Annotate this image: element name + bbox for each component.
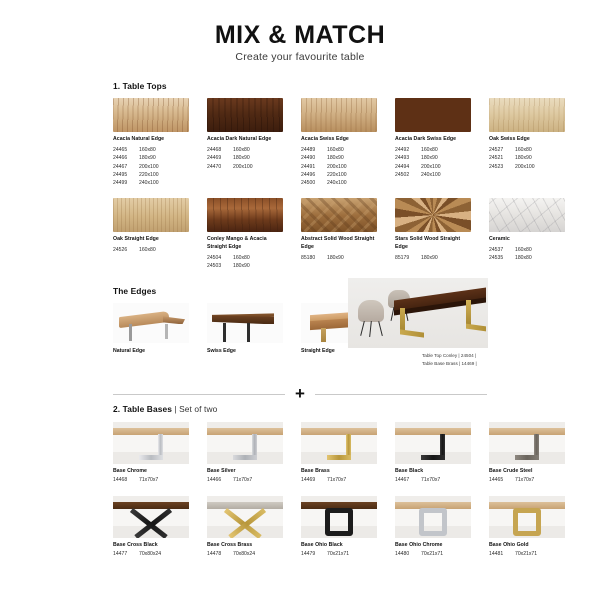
divider-line-left bbox=[113, 394, 285, 395]
divider-line-right bbox=[315, 394, 487, 395]
table-top-card[interactable]: Acacia Dark Natural Edge24468160x8024469… bbox=[207, 98, 283, 187]
base-ohio-shape bbox=[513, 508, 541, 536]
table-top-thumbnail[interactable] bbox=[395, 98, 471, 132]
leg-foot bbox=[233, 455, 257, 460]
page-header: MIX & MATCH Create your favourite table bbox=[0, 0, 600, 63]
variant-sku: 24503 bbox=[207, 262, 229, 270]
page-title: MIX & MATCH bbox=[0, 22, 600, 48]
section-title-table-tops: 1. Table Tops bbox=[113, 81, 600, 91]
variant-row: 24465160x80 bbox=[113, 146, 189, 154]
table-base-name: Base Ohio Chrome bbox=[395, 542, 471, 550]
table-base-thumbnail[interactable] bbox=[301, 496, 377, 538]
variant-size: 200x100 bbox=[139, 163, 159, 171]
variant-sku: 85180 bbox=[301, 254, 323, 262]
variant-sku: 24468 bbox=[207, 146, 229, 154]
variant-row: 24499240x100 bbox=[113, 179, 189, 187]
table-base-card[interactable]: Base Crude Steel1446571x70x7 bbox=[489, 422, 565, 484]
variant-size: 70x21x71 bbox=[515, 550, 537, 558]
table-top-card[interactable]: Acacia Natural Edge24465160x8024466180x9… bbox=[113, 98, 189, 187]
table-top-thumbnail[interactable] bbox=[301, 98, 377, 132]
chair-leg bbox=[369, 321, 372, 337]
variant-size: 180x90 bbox=[139, 154, 156, 162]
variant-sku: 24494 bbox=[395, 163, 417, 171]
variant-size: 180x90 bbox=[233, 154, 250, 162]
table-base-thumbnail[interactable] bbox=[395, 496, 471, 538]
variant-sku: 24527 bbox=[489, 146, 511, 154]
variant-sku: 24467 bbox=[113, 163, 135, 171]
table-top-card[interactable]: Acacia Swiss Edge24489160x8024490180x902… bbox=[301, 98, 377, 187]
table-top-variant-list: 24504160x8024503180x90 bbox=[207, 254, 283, 271]
table-base-thumbnail[interactable] bbox=[301, 422, 377, 464]
variant-row: 24496220x100 bbox=[301, 171, 377, 179]
variant-size: 70x21x71 bbox=[327, 550, 349, 558]
table-top-variant-list: 24465160x8024466180x9024467200x100244952… bbox=[113, 146, 189, 187]
variant-sku: 14468 bbox=[113, 476, 135, 484]
table-base-name: Base Cross Brass bbox=[207, 542, 283, 550]
variant-row: 24495220x100 bbox=[113, 171, 189, 179]
variant-row: 1448070x21x71 bbox=[395, 550, 471, 558]
variant-size: 240x100 bbox=[139, 179, 159, 187]
edge-name: Straight Edge bbox=[301, 348, 377, 354]
variant-row: 1446571x70x7 bbox=[489, 476, 565, 484]
table-base-card[interactable]: Base Ohio Black1447970x21x71 bbox=[301, 496, 377, 558]
variant-size: 200x100 bbox=[327, 163, 347, 171]
variant-sku: 24493 bbox=[395, 154, 417, 162]
variant-row: 24492160x80 bbox=[395, 146, 471, 154]
table-top-thumbnail[interactable] bbox=[207, 198, 283, 232]
edge-thumbnail[interactable] bbox=[113, 303, 189, 343]
variant-size: 180x90 bbox=[515, 154, 532, 162]
edge-name: Swiss Edge bbox=[207, 348, 283, 354]
variant-row: 85179180x90 bbox=[395, 254, 471, 262]
table-top-name: Acacia Swiss Edge bbox=[301, 136, 377, 144]
section-title-table-bases: 2. Table Bases | Set of two bbox=[113, 404, 600, 414]
table-base-thumbnail[interactable] bbox=[207, 422, 283, 464]
table-top-variant-list: 24492160x8024493180x9024494200x100245022… bbox=[395, 146, 471, 179]
table-base-foot bbox=[400, 329, 424, 337]
variant-row: 24503180x90 bbox=[207, 262, 283, 270]
table-top-name: Oak Swiss Edge bbox=[489, 136, 565, 144]
variant-sku: 24491 bbox=[301, 163, 323, 171]
table-base-card[interactable]: Base Black1446771x70x7 bbox=[395, 422, 471, 484]
variant-sku: 24500 bbox=[301, 179, 323, 187]
variant-row: 24468160x80 bbox=[207, 146, 283, 154]
variant-size: 70x21x71 bbox=[421, 550, 443, 558]
variant-row: 24490180x90 bbox=[301, 154, 377, 162]
variant-sku: 85179 bbox=[395, 254, 417, 262]
variant-size: 160x80 bbox=[233, 146, 250, 154]
variant-row: 24535180x80 bbox=[489, 254, 565, 262]
edge-card[interactable]: Natural Edge bbox=[113, 303, 189, 354]
variant-sku: 14480 bbox=[395, 550, 417, 558]
table-top-thumbnail[interactable] bbox=[395, 198, 471, 232]
variant-sku: 14477 bbox=[113, 550, 135, 558]
table-top-thumbnail[interactable] bbox=[113, 98, 189, 132]
variant-size: 200x100 bbox=[421, 163, 441, 171]
variant-sku: 24504 bbox=[207, 254, 229, 262]
variant-size: 240x100 bbox=[421, 171, 441, 179]
variant-sku: 24470 bbox=[207, 163, 229, 171]
catalog-page: MIX & MATCH Create your favourite table … bbox=[0, 0, 600, 600]
edge-thumbnail[interactable] bbox=[207, 303, 283, 343]
table-base-name: Base Ohio Black bbox=[301, 542, 377, 550]
table-tops-grid-row-2: Oak Straight Edge24526160x80Conley Mango… bbox=[113, 198, 600, 270]
variant-size: 220x100 bbox=[327, 171, 347, 179]
variant-sku: 24523 bbox=[489, 163, 511, 171]
table-leg bbox=[129, 324, 132, 341]
variant-row: 1446671x70x7 bbox=[207, 476, 283, 484]
variant-size: 160x80 bbox=[233, 254, 250, 262]
variant-size: 240x100 bbox=[327, 179, 347, 187]
caption-line-top: Table Top Conley | 24504 | bbox=[422, 352, 477, 360]
variant-sku: 24489 bbox=[301, 146, 323, 154]
leg-foot bbox=[421, 455, 445, 460]
table-top-name: Acacia Dark Natural Edge bbox=[207, 136, 283, 144]
variant-sku: 24537 bbox=[489, 246, 511, 254]
leg-foot bbox=[515, 455, 539, 460]
variant-size: 180x90 bbox=[421, 254, 438, 262]
natural-edge-profile bbox=[163, 316, 185, 324]
table-base-name: Base Chrome bbox=[113, 468, 189, 476]
table-top-card[interactable]: Stars Solid Wood Straight Edge85179180x9… bbox=[395, 198, 471, 270]
edge-card[interactable]: Swiss Edge bbox=[207, 303, 283, 354]
variant-size: 71x70x7 bbox=[327, 476, 346, 484]
variant-row: 24504160x80 bbox=[207, 254, 283, 262]
table-surface bbox=[119, 311, 169, 328]
base-leg-shape bbox=[515, 434, 539, 460]
table-top-thumbnail[interactable] bbox=[489, 198, 565, 232]
table-base-card[interactable]: Base Silver1446671x70x7 bbox=[207, 422, 283, 484]
table-top-card[interactable]: Acacia Dark Swiss Edge24492160x802449318… bbox=[395, 98, 471, 187]
chair-illustration bbox=[358, 300, 384, 322]
variant-size: 71x70x7 bbox=[421, 476, 440, 484]
table-top-card[interactable]: Abstract Solid Wood Straight Edge8518018… bbox=[301, 198, 377, 270]
table-base-name: Base Crude Steel bbox=[489, 468, 565, 476]
variant-size: 71x70x7 bbox=[515, 476, 534, 484]
table-top-variant-list: 24527160x8024521180x9024523200x100 bbox=[489, 146, 565, 171]
plus-divider: + bbox=[113, 387, 487, 401]
variant-sku: 14481 bbox=[489, 550, 511, 558]
variant-row: 85180180x90 bbox=[301, 254, 377, 262]
variant-size: 180x90 bbox=[233, 262, 250, 270]
table-base-name: Base Ohio Gold bbox=[489, 542, 565, 550]
variant-size: 71x70x7 bbox=[139, 476, 158, 484]
variant-sku: 24496 bbox=[301, 171, 323, 179]
plus-icon: + bbox=[295, 387, 305, 401]
variant-size: 160x80 bbox=[327, 146, 344, 154]
variant-row: 24521180x90 bbox=[489, 154, 565, 162]
lifestyle-photo-caption: Table Top Conley | 24504 | Table Base Br… bbox=[422, 352, 477, 368]
variant-row: 24526160x80 bbox=[113, 246, 189, 254]
variant-sku: 24490 bbox=[301, 154, 323, 162]
table-top-variant-list: 24489160x8024490180x9024491200x100244962… bbox=[301, 146, 377, 187]
variant-row: 24523200x100 bbox=[489, 163, 565, 171]
table-base-thumbnail[interactable] bbox=[113, 496, 189, 538]
table-top-card[interactable]: Ceramic24537160x8024535180x80 bbox=[489, 198, 565, 270]
table-bases-grid-row-1: Base Chrome1446871x70x7Base Silver144667… bbox=[113, 422, 600, 484]
leg-foot bbox=[327, 455, 351, 460]
variant-size: 160x80 bbox=[515, 146, 532, 154]
base-ohio-shape bbox=[325, 508, 353, 536]
variant-size: 70x80x24 bbox=[233, 550, 255, 558]
variant-sku: 14467 bbox=[395, 476, 417, 484]
variant-size: 180x90 bbox=[421, 154, 438, 162]
variant-row: 24502240x100 bbox=[395, 171, 471, 179]
table-top-name: Ceramic bbox=[489, 236, 565, 244]
table-top-card[interactable]: Conley Mango & Acacia Straight Edge24504… bbox=[207, 198, 283, 270]
edge-name: Natural Edge bbox=[113, 348, 189, 354]
variant-row: 1446971x70x7 bbox=[301, 476, 377, 484]
variant-size: 200x100 bbox=[515, 163, 535, 171]
table-leg bbox=[165, 324, 168, 339]
table-top-variant-list: 24468160x8024469180x9024470200x100 bbox=[207, 146, 283, 171]
base-leg-shape bbox=[421, 434, 445, 460]
variant-size: 180x90 bbox=[327, 154, 344, 162]
base-ohio-shape bbox=[419, 508, 447, 536]
base-leg-shape bbox=[233, 434, 257, 460]
table-top-thumbnail[interactable] bbox=[489, 98, 565, 132]
variant-row: 1448170x21x71 bbox=[489, 550, 565, 558]
variant-sku: 24502 bbox=[395, 171, 417, 179]
table-top-variant-list: 24526160x80 bbox=[113, 246, 189, 254]
table-base-name: Base Black bbox=[395, 468, 471, 476]
table-top-thumbnail[interactable] bbox=[207, 98, 283, 132]
section-title-main: 2. Table Bases bbox=[113, 404, 172, 414]
variant-size: 71x70x7 bbox=[233, 476, 252, 484]
variant-row: 24527160x80 bbox=[489, 146, 565, 154]
variant-size: 180x90 bbox=[327, 254, 344, 262]
table-base-name: Base Cross Black bbox=[113, 542, 189, 550]
variant-sku: 24521 bbox=[489, 154, 511, 162]
variant-size: 220x100 bbox=[139, 171, 159, 179]
variant-size: 160x80 bbox=[139, 246, 156, 254]
chair-leg bbox=[360, 321, 365, 336]
variant-size: 200x100 bbox=[233, 163, 253, 171]
variant-row: 1447970x21x71 bbox=[301, 550, 377, 558]
table-top-thumbnail[interactable] bbox=[301, 198, 377, 232]
table-base-card[interactable]: Base Ohio Chrome1448070x21x71 bbox=[395, 496, 471, 558]
table-top-name: Conley Mango & Acacia Straight Edge bbox=[207, 236, 283, 252]
table-top-name: Acacia Natural Edge bbox=[113, 136, 189, 144]
table-top-name: Acacia Dark Swiss Edge bbox=[395, 136, 471, 144]
variant-row: 1447770x80x24 bbox=[113, 550, 189, 558]
table-top-name: Abstract Solid Wood Straight Edge bbox=[301, 236, 377, 252]
variant-row: 24494200x100 bbox=[395, 163, 471, 171]
table-base-name: Base Brass bbox=[301, 468, 377, 476]
section-title-suffix: | Set of two bbox=[174, 404, 217, 414]
variant-row: 24466180x90 bbox=[113, 154, 189, 162]
table-leg bbox=[247, 323, 250, 342]
table-bases-grid-row-2: Base Cross Black1447770x80x24Base Cross … bbox=[113, 496, 600, 558]
variant-size: 160x80 bbox=[139, 146, 156, 154]
variant-sku: 14479 bbox=[301, 550, 323, 558]
variant-sku: 24499 bbox=[113, 179, 135, 187]
variant-sku: 24535 bbox=[489, 254, 511, 262]
variant-row: 24470200x100 bbox=[207, 163, 283, 171]
variant-sku: 14466 bbox=[207, 476, 229, 484]
variant-size: 70x80x24 bbox=[139, 550, 161, 558]
variant-sku: 24466 bbox=[113, 154, 135, 162]
variant-sku: 14478 bbox=[207, 550, 229, 558]
lifestyle-photo bbox=[348, 278, 488, 348]
table-base-name: Base Silver bbox=[207, 468, 283, 476]
variant-sku: 14469 bbox=[301, 476, 323, 484]
table-base-card[interactable]: Base Cross Black1447770x80x24 bbox=[113, 496, 189, 558]
variant-row: 24537160x80 bbox=[489, 246, 565, 254]
table-top-card[interactable]: Oak Swiss Edge24527160x8024521180x902452… bbox=[489, 98, 565, 187]
table-base-card[interactable]: Base Brass1446971x70x7 bbox=[301, 422, 377, 484]
page-subtitle: Create your favourite table bbox=[0, 51, 600, 63]
variant-row: 24491200x100 bbox=[301, 163, 377, 171]
variant-row: 24500240x100 bbox=[301, 179, 377, 187]
table-base-thumbnail[interactable] bbox=[207, 496, 283, 538]
variant-row: 24467200x100 bbox=[113, 163, 189, 171]
table-top-name: Stars Solid Wood Straight Edge bbox=[395, 236, 471, 252]
variant-size: 180x80 bbox=[515, 254, 532, 262]
variant-row: 24493180x90 bbox=[395, 154, 471, 162]
table-top-variant-list: 24537160x8024535180x80 bbox=[489, 246, 565, 263]
variant-row: 1446771x70x7 bbox=[395, 476, 471, 484]
leg-foot bbox=[139, 455, 163, 460]
caption-line-base: Table Base Brass | 14469 | bbox=[422, 360, 477, 368]
table-base-card[interactable]: Base Ohio Gold1448170x21x71 bbox=[489, 496, 565, 558]
table-leg bbox=[321, 328, 326, 342]
base-cross-shape bbox=[227, 508, 263, 536]
variant-row: 24469180x90 bbox=[207, 154, 283, 162]
variant-size: 160x80 bbox=[515, 246, 532, 254]
base-leg-shape bbox=[139, 434, 163, 460]
table-base-thumbnail[interactable] bbox=[489, 496, 565, 538]
variant-sku: 24526 bbox=[113, 246, 135, 254]
variant-row: 1447870x80x24 bbox=[207, 550, 283, 558]
base-leg-shape bbox=[327, 434, 351, 460]
table-base-thumbnail[interactable] bbox=[489, 422, 565, 464]
table-tops-grid-row-1: Acacia Natural Edge24465160x8024466180x9… bbox=[113, 98, 600, 187]
table-base-card[interactable]: Base Cross Brass1447870x80x24 bbox=[207, 496, 283, 558]
variant-sku: 14465 bbox=[489, 476, 511, 484]
base-cross-shape bbox=[133, 508, 169, 536]
table-top-variant-list: 85180180x90 bbox=[301, 254, 377, 262]
table-top-variant-list: 85179180x90 bbox=[395, 254, 471, 262]
variant-sku: 24495 bbox=[113, 171, 135, 179]
table-base-card[interactable]: Base Chrome1446871x70x7 bbox=[113, 422, 189, 484]
table-top-name: Oak Straight Edge bbox=[113, 236, 189, 244]
table-top-card[interactable]: Oak Straight Edge24526160x80 bbox=[113, 198, 189, 270]
variant-row: 24489160x80 bbox=[301, 146, 377, 154]
variant-sku: 24492 bbox=[395, 146, 417, 154]
table-top-thumbnail[interactable] bbox=[113, 198, 189, 232]
table-base-foot bbox=[466, 324, 486, 332]
variant-sku: 24469 bbox=[207, 154, 229, 162]
variant-size: 160x80 bbox=[421, 146, 438, 154]
chair-leg bbox=[378, 321, 383, 336]
table-base-thumbnail[interactable] bbox=[395, 422, 471, 464]
table-base-thumbnail[interactable] bbox=[113, 422, 189, 464]
table-leg bbox=[223, 323, 226, 342]
variant-row: 1446871x70x7 bbox=[113, 476, 189, 484]
variant-sku: 24465 bbox=[113, 146, 135, 154]
